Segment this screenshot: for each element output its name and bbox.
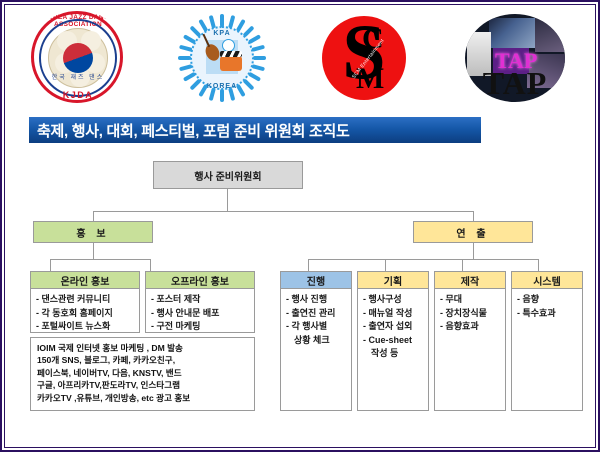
connector-gihoek [385,259,386,271]
node-yeonchul: 연 출 [413,221,533,243]
page-title: 축제, 행사, 대회, 페스티벌, 포럼 준비 위원회 조직도 [29,117,481,143]
scm-logo: C S M SCM Entertainment [318,12,410,104]
marketing-note-box: IOIM 국제 인터넷 홍보 마케팅 , DM 발송 150개 SNS, 블로그… [30,337,255,411]
list-item: - 출연진 관리 [286,307,348,321]
tap-photo-1 [489,18,535,48]
kpa-spike [220,14,224,27]
list-item: - 구전 마케팅 [151,320,251,334]
panel-body-jinhaeng: - 행사 진행 - 출연진 관리 - 각 행사별 상황 체크 [281,289,351,349]
note-line: 페이스북, 네이버TV, 다음, KNSTV, 밴드 [37,367,250,379]
panel-jejak: 제작 - 무대 - 장치장식물 - 음향효과 [434,271,506,411]
connector-yeonchul-horizontal [308,259,538,260]
list-item: - 출연자 섭외 [363,320,425,334]
taeguk-icon [63,43,93,73]
note-line: 150개 SNS, 블로그, 카페, 카카오친구, [37,354,250,366]
logo-strip: KOREA JAZZ DANCE ASSOCIATION 한국 재즈 댄스 KJ… [5,5,595,111]
tap-photo-2 [535,18,565,52]
list-item: - 무대 [440,293,502,307]
list-item: - 댄스관련 커뮤니티 [36,293,136,307]
tap-title-text: TAP [460,65,570,102]
panel-body-online-hongbo: - 댄스관련 커뮤니티 - 각 동호회 홈페이지 - 포털싸이트 뉴스화 [31,289,139,336]
panel-header-siseutem: 시스템 [512,272,582,289]
list-item: - 포스터 제작 [151,293,251,307]
panel-body-jejak: - 무대 - 장치장식물 - 음향효과 [435,289,505,336]
list-item: - 각 동호회 홈페이지 [36,307,136,321]
list-item: - 행사구성 [363,293,425,307]
panel-body-gihoek: - 행사구성 - 매뉴얼 작성 - 출연자 섭외 - Cue-sheet 작성 … [358,289,428,363]
list-item: 상황 체크 [286,334,348,348]
inner-frame: KOREA JAZZ DANCE ASSOCIATION 한국 재즈 댄스 KJ… [4,4,596,448]
panel-offline-hongbo: 오프라인 홍보 - 포스터 제작 - 행사 안내문 배포 - 구전 마케팅 [145,271,255,333]
list-item: - 행사 안내문 배포 [151,307,251,321]
panel-header-jejak: 제작 [435,272,505,289]
kjda-bottom-text: KJDA [30,90,126,100]
connector-root-down [227,189,228,211]
panel-body-siseutem: - 음향 - 특수효과 [512,289,582,322]
panel-jinhaeng: 진행 - 행사 진행 - 출연진 관리 - 각 행사별 상황 체크 [280,271,352,411]
list-item: 작성 등 [363,347,425,361]
list-item: - 각 행사별 [286,320,348,334]
node-hongbo: 홍 보 [33,221,153,243]
poster-page: KOREA JAZZ DANCE ASSOCIATION 한국 재즈 댄스 KJ… [0,0,600,452]
panel-header-online-hongbo: 온라인 홍보 [31,272,139,289]
list-item: - 행사 진행 [286,293,348,307]
connector-hongbo-down [93,243,94,259]
panel-header-offline-hongbo: 오프라인 홍보 [146,272,254,289]
list-item: - 포털싸이트 뉴스화 [36,320,136,334]
connector-to-yeonchul [473,211,474,221]
kpa-logo: KPA KOREA [176,12,268,104]
tap-logo: TAP TAP [460,12,570,104]
list-item: - 매뉴얼 작성 [363,307,425,321]
note-line: 카카오TV ,유튜브, 개인방송, etc 광고 홍보 [37,392,250,404]
panel-gihoek: 기획 - 행사구성 - 매뉴얼 작성 - 출연자 섭외 - Cue-sheet … [357,271,429,411]
list-item: - 장치장식물 [440,307,502,321]
panel-body-offline-hongbo: - 포스터 제작 - 행사 안내문 배포 - 구전 마케팅 [146,289,254,336]
note-line: 구글, 아프리카TV,판도라TV, 인스타그램 [37,379,250,391]
connector-tier1-horizontal [93,211,473,212]
note-line: IOIM 국제 인터넷 홍보 마케팅 , DM 발송 [37,342,250,354]
panel-header-jinhaeng: 진행 [281,272,351,289]
list-item: - 음향 [517,293,579,307]
kpa-spike [253,56,266,60]
kpa-spike [178,56,191,60]
org-chart: 행사 준비위원회 홍 보 연 출 온라인 홍보 - 댄스관련 커뮤니티 - 각 … [5,147,599,451]
connector-to-hongbo [93,211,94,221]
kjda-hanja-text: 한국 재즈 댄스 [30,72,126,81]
kjda-logo: KOREA JAZZ DANCE ASSOCIATION 한국 재즈 댄스 KJ… [30,10,126,106]
list-item: - 특수효과 [517,307,579,321]
connector-hongbo-horizontal [50,259,150,260]
panel-header-gihoek: 기획 [358,272,428,289]
list-item: - Cue-sheet [363,334,425,348]
connector-yeonchul-down [473,243,474,259]
connector-hongbo-right [150,259,151,271]
panel-siseutem: 시스템 - 음향 - 특수효과 [511,271,583,411]
connector-jejak [462,259,463,271]
kpa-spike [220,89,224,102]
panel-online-hongbo: 온라인 홍보 - 댄스관련 커뮤니티 - 각 동호회 홈페이지 - 포털싸이트 … [30,271,140,333]
node-root: 행사 준비위원회 [153,161,303,189]
connector-hongbo-left [50,259,51,271]
list-item: - 음향효과 [440,320,502,334]
clapperboard-icon [220,56,242,71]
connector-siseutem [538,259,539,271]
connector-jinhaeng [308,259,309,271]
